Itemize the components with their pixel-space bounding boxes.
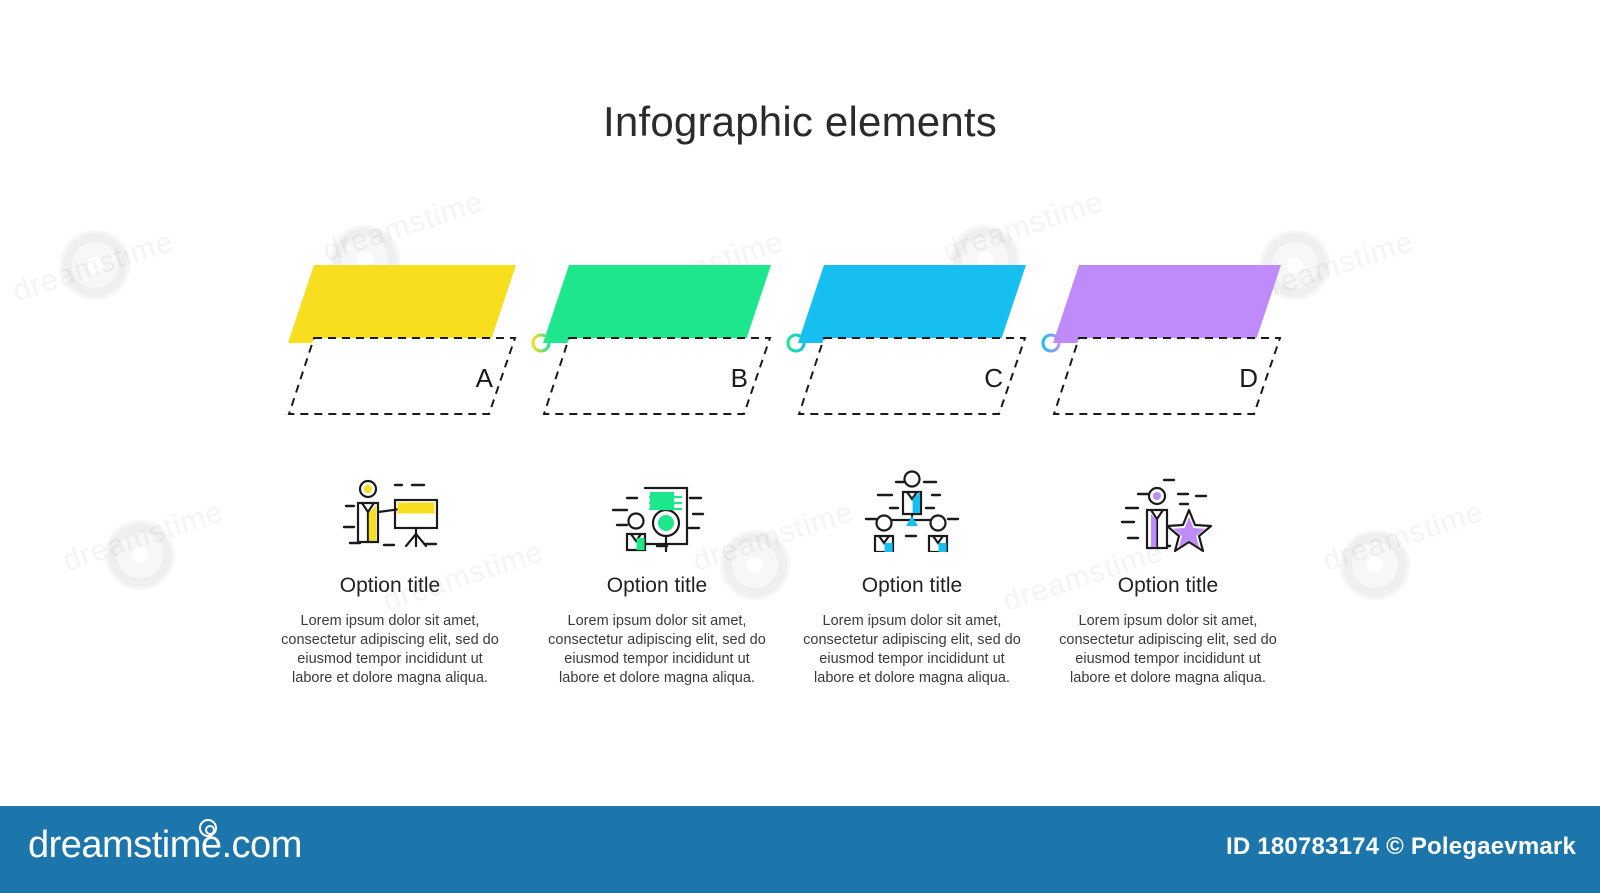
- team-hierarchy-icon: [784, 468, 1040, 554]
- option-card-b-body: Lorem ipsum dolor sit amet, consectetur …: [529, 612, 785, 689]
- person-star-award-icon: [1040, 468, 1296, 554]
- page-title: Infographic elements: [0, 98, 1600, 146]
- step-d-solid-shape[interactable]: [1053, 265, 1281, 343]
- step-a-solid-shape[interactable]: [288, 265, 516, 343]
- option-card-c-body: Lorem ipsum dolor sit amet, consectetur …: [784, 612, 1040, 689]
- option-card-d-body: Lorem ipsum dolor sit amet, consectetur …: [1040, 612, 1296, 689]
- step-c-letter: C: [798, 363, 1003, 394]
- spiral-icon: [199, 819, 217, 837]
- infographic-canvas: Infographic elements A: [0, 0, 1600, 893]
- connector-ring-ab: [530, 332, 552, 354]
- image-credit: ID 180783174 © Polegaevmark: [1226, 833, 1576, 861]
- option-cards-row: Option title Lorem ipsum dolor sit amet,…: [0, 468, 1600, 708]
- option-card-b-title: Option title: [529, 574, 785, 598]
- step-b[interactable]: B: [543, 265, 805, 425]
- connector-ring-bc: [785, 332, 807, 354]
- option-card-b: Option title Lorem ipsum dolor sit amet,…: [529, 468, 785, 689]
- step-a[interactable]: A: [288, 265, 550, 425]
- step-b-solid-shape[interactable]: [543, 265, 771, 343]
- option-card-a: Option title Lorem ipsum dolor sit amet,…: [262, 468, 518, 689]
- option-card-a-title: Option title: [262, 574, 518, 598]
- presenter-whiteboard-icon: [262, 468, 518, 554]
- option-card-a-body: Lorem ipsum dolor sit amet, consectetur …: [262, 612, 518, 689]
- person-document-magnifier-icon: [529, 468, 785, 554]
- step-d-letter: D: [1053, 363, 1258, 394]
- step-d[interactable]: D: [1053, 265, 1315, 425]
- footer-bar: dreamstime.com ID 180783174 © Polegaevma…: [0, 806, 1600, 893]
- option-card-d-title: Option title: [1040, 574, 1296, 598]
- connector-ring-cd: [1040, 332, 1062, 354]
- step-a-letter: A: [288, 363, 493, 394]
- option-card-d: Option title Lorem ipsum dolor sit amet,…: [1040, 468, 1296, 689]
- option-card-c-title: Option title: [784, 574, 1040, 598]
- step-c-solid-shape[interactable]: [798, 265, 1026, 343]
- option-card-c: Option title Lorem ipsum dolor sit amet,…: [784, 468, 1040, 689]
- dreamstime-logo[interactable]: dreamstime.com: [28, 824, 302, 867]
- step-b-letter: B: [543, 363, 748, 394]
- dreamstime-logo-text: dreamstime.com: [28, 824, 302, 866]
- step-c[interactable]: C: [798, 265, 1060, 425]
